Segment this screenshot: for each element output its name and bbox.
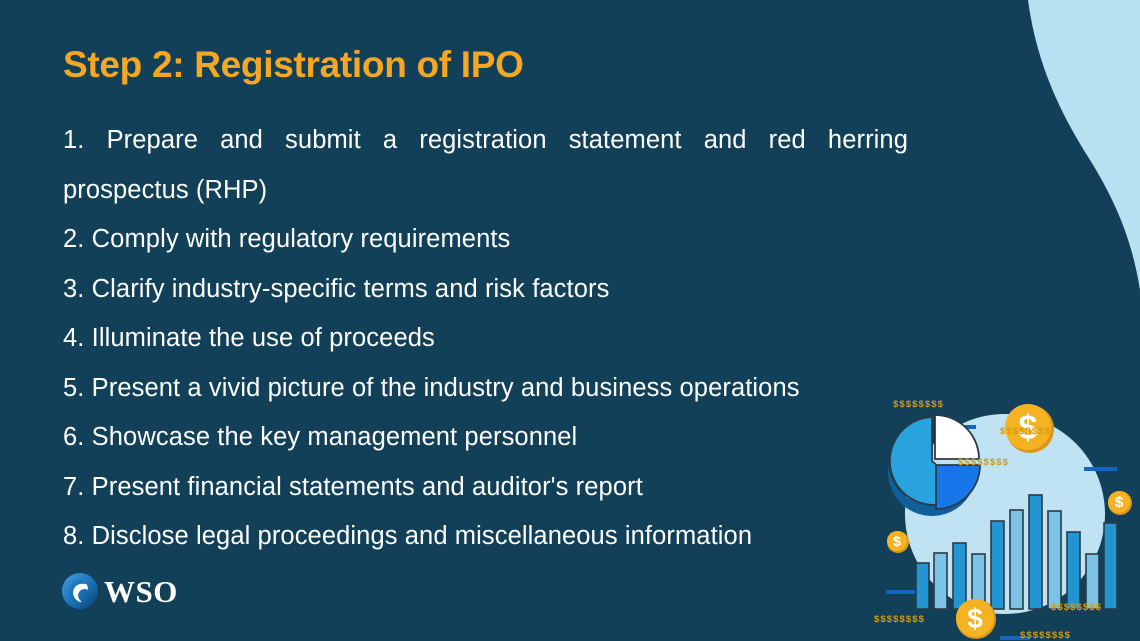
dollar-strip: $$$$$$$$ bbox=[1000, 426, 1051, 437]
wso-swirl-icon bbox=[61, 572, 99, 610]
list-item: 3. Clarify industry-specific terms and r… bbox=[63, 265, 908, 315]
coin-group: $ $ $ $ bbox=[887, 404, 1132, 639]
dash-decorations bbox=[886, 425, 1117, 640]
finance-illustration: $ $ $ $ $$$$$$$$ bbox=[872, 386, 1140, 641]
coin-small-right: $ bbox=[1108, 491, 1132, 515]
dollar-strip: $$$$$$$$ bbox=[1051, 602, 1102, 613]
list-item: 7. Present financial statements and audi… bbox=[63, 463, 908, 513]
slide-canvas: Step 2: Registration of IPO 1. Prepare a… bbox=[0, 0, 1140, 641]
page-title: Step 2: Registration of IPO bbox=[63, 44, 524, 86]
list-item: 6. Showcase the key management personnel bbox=[63, 413, 908, 463]
list-item: 5. Present a vivid picture of the indust… bbox=[63, 364, 908, 414]
list-item-line: prospectus (RHP) bbox=[63, 166, 908, 216]
list-item: 1. Prepare and submit a registration sta… bbox=[63, 116, 908, 215]
coin-bottom: $ bbox=[956, 599, 996, 639]
wso-logo[interactable]: WSO bbox=[61, 572, 178, 610]
illustration-circle bbox=[905, 414, 1105, 614]
list-item: 8. Disclose legal proceedings and miscel… bbox=[63, 512, 908, 562]
list-item: 4. Illuminate the use of proceeds bbox=[63, 314, 908, 364]
wso-logo-text: WSO bbox=[104, 576, 178, 607]
dollar-strip: $$$$$$$$ bbox=[874, 614, 925, 625]
dollar-strip: $$$$$$$$ bbox=[1020, 630, 1071, 641]
list-item: 2. Comply with regulatory requirements bbox=[63, 215, 908, 265]
illustration-svg: $ $ $ $ bbox=[872, 386, 1140, 641]
svg-text:$: $ bbox=[1115, 494, 1124, 511]
svg-text:$: $ bbox=[1019, 409, 1038, 447]
coin-large-top: $ bbox=[1005, 404, 1054, 453]
dollar-strip: $$$$$$$$ bbox=[958, 457, 1009, 468]
corner-blob-decoration bbox=[940, 0, 1140, 290]
bar-chart bbox=[916, 495, 1117, 609]
steps-list: 1. Prepare and submit a registration sta… bbox=[63, 116, 908, 562]
svg-text:$: $ bbox=[967, 603, 983, 634]
list-item-line: 1. Prepare and submit a registration sta… bbox=[63, 116, 908, 166]
